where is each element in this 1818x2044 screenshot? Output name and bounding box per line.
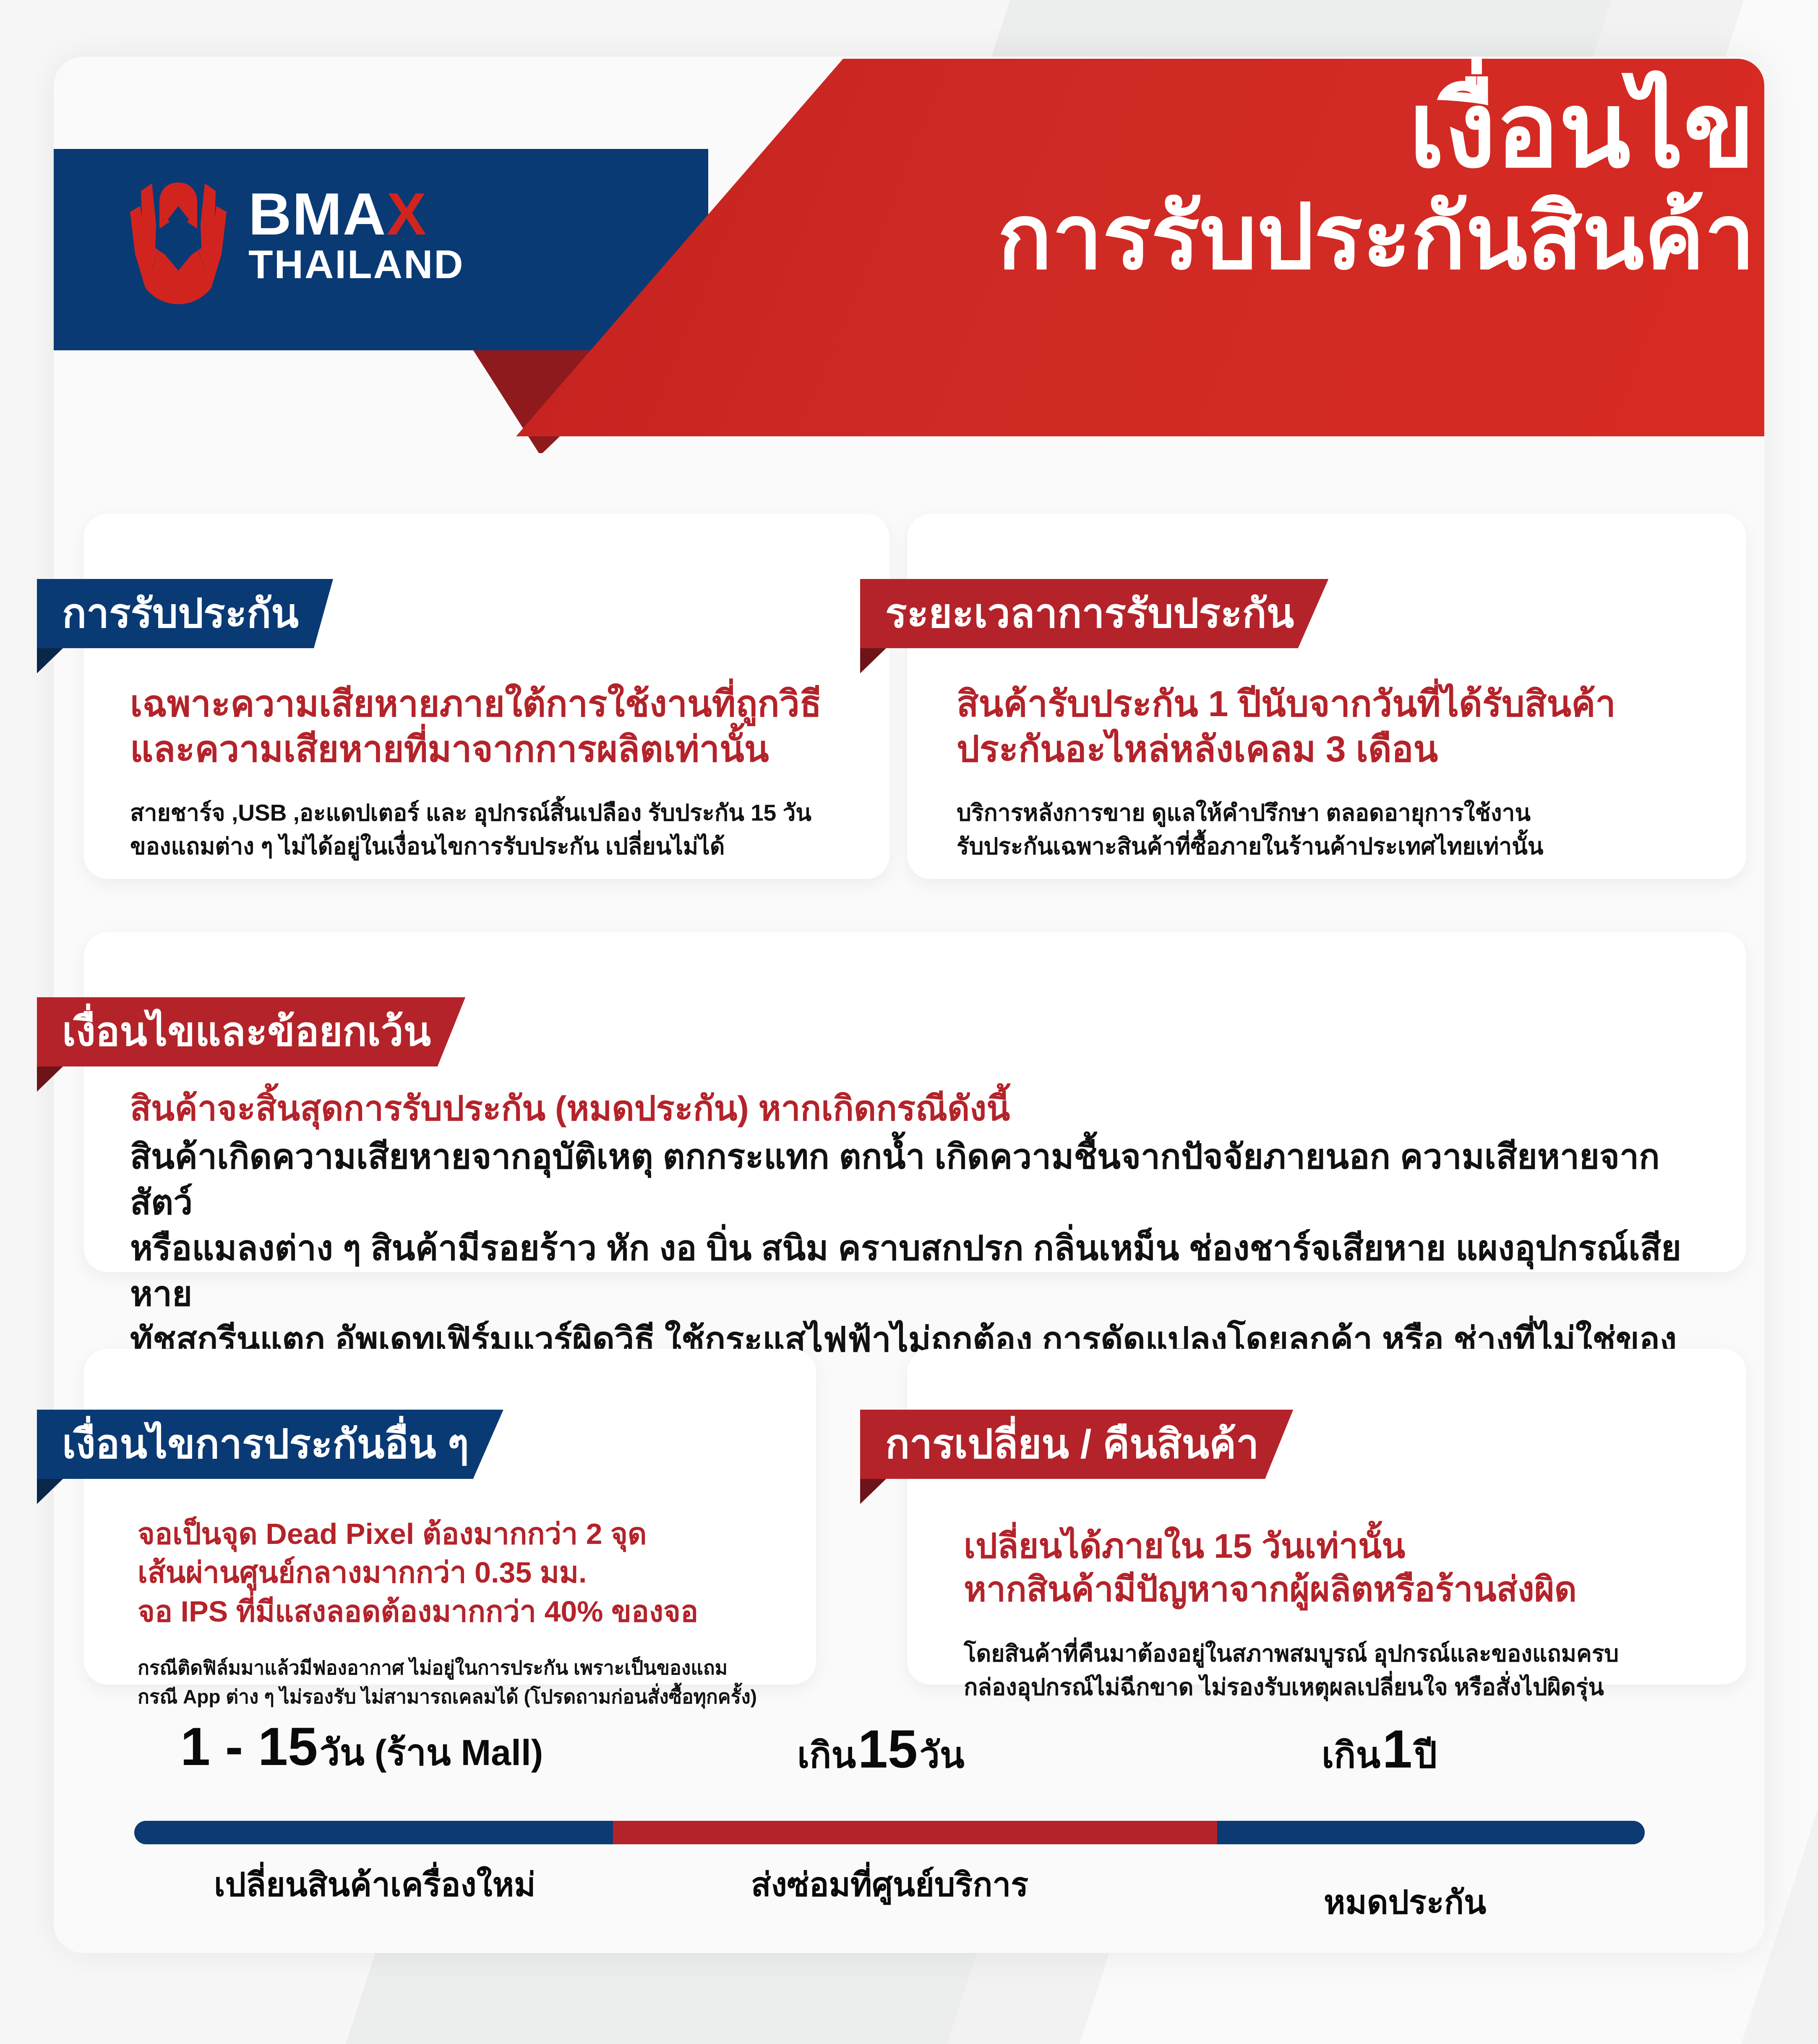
timeline-caption-2-value: 1 [1382, 1719, 1412, 1779]
card-exchange-return-sub-line: โดยสินค้าที่คืนมาต้องอยู่ในสภาพสมบูรณ์ อ… [964, 1637, 1717, 1671]
warranty-timeline: 1 - 15 วัน (ร้าน Mall) เกิน 15 วัน เกิน … [0, 1716, 1818, 1968]
card-conditions-exclusions-sub-line: หรือแมลงต่าง ๆ สินค้ามีรอยร้าว หัก งอ บิ… [130, 1225, 1717, 1317]
card-other-conditions-highlight-line: จอเป็นจุด Dead Pixel ต้องมากกว่า 2 จุด [138, 1515, 787, 1553]
card-exchange-return-ribbon: การเปลี่ยน / คืนสินค้า [860, 1410, 1293, 1479]
card-warranty-period-sub: บริการหลังการขาย ดูแลให้คำปรึกษา ตลอดอาย… [957, 796, 1717, 863]
brand-name: BMAX [248, 186, 464, 243]
card-warranty: การรับประกัน เฉพาะความเสียหายภายใต้การใช… [84, 514, 889, 879]
card-other-conditions-sub: กรณีติดฟิล์มมาแล้วมีฟองอากาศ ไม่อยู่ในกา… [138, 1653, 787, 1711]
timeline-caption-2-prefix: เกิน [1322, 1735, 1380, 1775]
timeline-segment-2 [1217, 1821, 1645, 1844]
card-exchange-return-highlight-line: เปลี่ยนได้ภายใน 15 วันเท่านั้น [964, 1525, 1717, 1568]
timeline-label-2: หมดประกัน [1324, 1876, 1486, 1928]
fox-head-mask-icon [126, 166, 231, 304]
timeline-segment-1 [613, 1821, 1217, 1844]
card-exchange-return-body: เปลี่ยนได้ภายใน 15 วันเท่านั้น หากสินค้า… [964, 1525, 1717, 1704]
card-warranty-body: เฉพาะความเสียหายภายใต้การใช้งานที่ถูกวิธ… [130, 682, 860, 863]
timeline-segment-0 [134, 1821, 613, 1844]
card-warranty-highlight: เฉพาะความเสียหายภายใต้การใช้งานที่ถูกวิธ… [130, 682, 860, 772]
timeline-caption-0-value: 1 - 15 [180, 1717, 318, 1777]
brand-name-accent: X [386, 181, 427, 248]
card-warranty-highlight-line: เฉพาะความเสียหายภายใต้การใช้งานที่ถูกวิธ… [130, 682, 860, 727]
page-title: เงื่อนไข การรับประกันสินค้า [997, 78, 1755, 282]
card-conditions-exclusions: เงื่อนไขและข้อยกเว้น สินค้าจะสิ้นสุดการร… [84, 932, 1746, 1272]
card-exchange-return-sub: โดยสินค้าที่คืนมาต้องอยู่ในสภาพสมบูรณ์ อ… [964, 1637, 1717, 1704]
card-warranty-period-highlight: สินค้ารับประกัน 1 ปีนับจากวันที่ได้รับสิ… [957, 682, 1717, 772]
timeline-label-1: ส่งซ่อมที่ศูนย์บริการ [751, 1859, 1028, 1911]
timeline-caption-1-prefix: เกิน [797, 1735, 856, 1775]
card-warranty-sub: สายชาร์จ ,USB ,อะแดปเตอร์ และ อุปกรณ์สิ้… [130, 796, 860, 863]
timeline-captions: 1 - 15 วัน (ร้าน Mall) เกิน 15 วัน เกิน … [0, 1716, 1818, 1783]
card-conditions-exclusions-sub-line: สินค้าเกิดความเสียหายจากอุบัติเหตุ ตกกระ… [130, 1134, 1717, 1225]
timeline-caption-1-value: 15 [858, 1719, 918, 1779]
card-other-conditions-body: จอเป็นจุด Dead Pixel ต้องมากกว่า 2 จุด เ… [138, 1515, 787, 1711]
timeline-caption-0: 1 - 15 วัน (ร้าน Mall) [180, 1716, 543, 1781]
card-conditions-exclusions-ribbon: เงื่อนไขและข้อยกเว้น [37, 997, 465, 1066]
timeline-caption-1: เกิน 15 วัน [797, 1718, 965, 1783]
timeline-caption-0-unit: วัน (ร้าน Mall) [320, 1733, 543, 1773]
card-warranty-period-sub-line: รับประกันเฉพาะสินค้าที่ซื้อภายในร้านค้าป… [957, 830, 1717, 863]
card-other-conditions-highlight-line: เส้นผ่านศูนย์กลางมากกว่า 0.35 มม. [138, 1553, 787, 1592]
card-other-conditions-ribbon: เงื่อนไขการประกันอื่น ๆ [37, 1410, 503, 1479]
brand-logo: BMAX THAILAND [126, 166, 464, 304]
card-exchange-return-sub-line: กล่องอุปกรณ์ไม่ฉีกขาด ไม่รองรับเหตุผลเปล… [964, 1671, 1717, 1704]
card-warranty-period-ribbon: ระยะเวลาการรับประกัน [860, 579, 1328, 648]
card-warranty-period-sub-line: บริการหลังการขาย ดูแลให้คำปรึกษา ตลอดอาย… [957, 796, 1717, 830]
card-warranty-ribbon: การรับประกัน [37, 579, 333, 648]
card-other-conditions-sub-line: กรณี App ต่าง ๆ ไม่รองรับ ไม่สามารถเคลมไ… [138, 1682, 787, 1711]
brand-country: THAILAND [248, 245, 464, 284]
card-exchange-return-highlight: เปลี่ยนได้ภายใน 15 วันเท่านั้น หากสินค้า… [964, 1525, 1717, 1611]
timeline-bar [134, 1821, 1645, 1844]
header-banner: BMAX THAILAND เงื่อนไข การรับประกันสินค้… [0, 0, 1818, 453]
card-other-conditions-highlight-line: จอ IPS ที่มีแสงลอดต้องมากกว่า 40% ของจอ [138, 1592, 787, 1631]
card-warranty-sub-line: สายชาร์จ ,USB ,อะแดปเตอร์ และ อุปกรณ์สิ้… [130, 796, 860, 830]
card-warranty-period-body: สินค้ารับประกัน 1 ปีนับจากวันที่ได้รับสิ… [957, 682, 1717, 863]
timeline-caption-2: เกิน 1 ปี [1322, 1718, 1437, 1783]
timeline-label-0: เปลี่ยนสินค้าเครื่องใหม่ [214, 1859, 535, 1911]
card-warranty-sub-line: ของแถมต่าง ๆ ไม่ได้อยู่ในเงื่อนไขการรับป… [130, 830, 860, 863]
page-title-line2: การรับประกันสินค้า [997, 192, 1755, 282]
card-warranty-period: ระยะเวลาการรับประกัน สินค้ารับประกัน 1 ป… [907, 514, 1746, 879]
card-conditions-exclusions-highlight: สินค้าจะสิ้นสุดการรับประกัน (หมดประกัน) … [130, 1087, 1717, 1131]
card-other-conditions: เงื่อนไขการประกันอื่น ๆ จอเป็นจุด Dead P… [84, 1349, 816, 1684]
card-warranty-period-highlight-line: สินค้ารับประกัน 1 ปีนับจากวันที่ได้รับสิ… [957, 682, 1717, 727]
card-other-conditions-highlight: จอเป็นจุด Dead Pixel ต้องมากกว่า 2 จุด เ… [138, 1515, 787, 1631]
card-conditions-exclusions-highlight-line: สินค้าจะสิ้นสุดการรับประกัน (หมดประกัน) … [130, 1087, 1717, 1131]
card-other-conditions-sub-line: กรณีติดฟิล์มมาแล้วมีฟองอากาศ ไม่อยู่ในกา… [138, 1653, 787, 1682]
timeline-labels: เปลี่ยนสินค้าเครื่องใหม่ ส่งซ่อมที่ศูนย์… [0, 1859, 1818, 1926]
card-exchange-return: การเปลี่ยน / คืนสินค้า เปลี่ยนได้ภายใน 1… [907, 1349, 1746, 1684]
card-exchange-return-highlight-line: หากสินค้ามีปัญหาจากผู้ผลิตหรือร้านส่งผิด [964, 1568, 1717, 1611]
timeline-caption-2-unit: ปี [1414, 1735, 1437, 1775]
card-warranty-period-highlight-line: ประกันอะไหล่หลังเคลม 3 เดือน [957, 727, 1717, 772]
timeline-caption-1-unit: วัน [920, 1735, 965, 1775]
page-title-line1: เงื่อนไข [997, 78, 1755, 182]
card-warranty-highlight-line: และความเสียหายที่มาจากการผลิตเท่านั้น [130, 727, 860, 772]
